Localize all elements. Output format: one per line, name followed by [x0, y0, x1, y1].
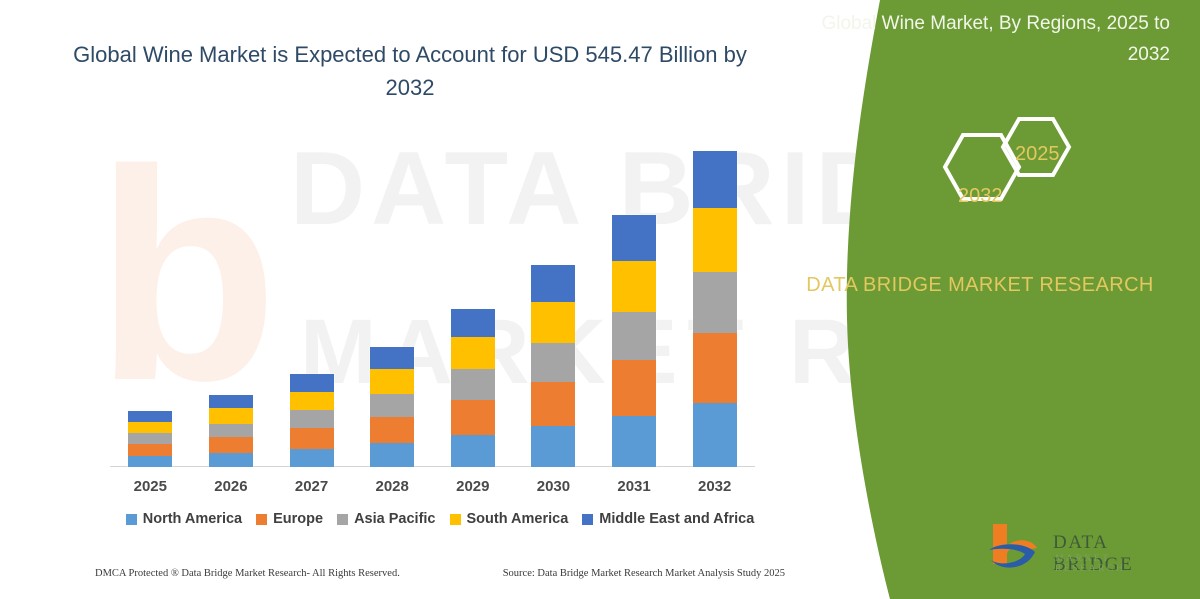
chart-legend: North AmericaEuropeAsia PacificSouth Ame…: [110, 511, 770, 527]
stacked-bar[interactable]: [531, 265, 575, 467]
bar-segment[interactable]: [451, 400, 495, 435]
legend-item[interactable]: Asia Pacific: [337, 511, 435, 527]
badge-end-year: 2032: [958, 185, 1003, 208]
bar-segment[interactable]: [128, 433, 172, 444]
x-axis-labels: 20252026202720282029203020312032: [110, 474, 755, 500]
legend-label: Europe: [273, 511, 323, 527]
bar-segment[interactable]: [128, 422, 172, 433]
legend-label: South America: [467, 511, 569, 527]
panel-title: Global Wine Market, By Regions, 2025 to …: [820, 8, 1170, 70]
bar-column: [352, 140, 433, 467]
x-axis-label: 2030: [513, 474, 594, 500]
stacked-bar[interactable]: [451, 309, 495, 467]
bar-segment[interactable]: [209, 424, 253, 438]
hexagon-outline-icon: [915, 105, 1095, 230]
x-axis-label: 2026: [191, 474, 272, 500]
company-logo: DATA BRIDGE MARKET RESEARCH: [985, 520, 1185, 582]
bar-segment[interactable]: [209, 408, 253, 424]
legend-label: Middle East and Africa: [599, 511, 754, 527]
legend-label: North America: [143, 511, 242, 527]
bar-segment[interactable]: [209, 453, 253, 467]
stacked-bar[interactable]: [290, 374, 334, 467]
badge-start-year: 2025: [1015, 143, 1060, 166]
legend-swatch-icon: [450, 514, 461, 525]
bar-column: [271, 140, 352, 467]
bar-segment[interactable]: [531, 343, 575, 382]
stacked-bar[interactable]: [370, 347, 414, 467]
bar-segment[interactable]: [128, 444, 172, 456]
bar-segment[interactable]: [370, 369, 414, 394]
bar-segment[interactable]: [531, 265, 575, 302]
brand-panel: Global Wine Market, By Regions, 2025 to …: [760, 0, 1200, 599]
legend-item[interactable]: Europe: [256, 511, 323, 527]
bar-column: [513, 140, 594, 467]
legend-label: Asia Pacific: [354, 511, 435, 527]
bar-segment[interactable]: [290, 374, 334, 391]
bar-segment[interactable]: [370, 443, 414, 467]
bar-segment[interactable]: [693, 208, 737, 272]
bar-column: [674, 140, 755, 467]
chart-bars: [110, 140, 755, 467]
bar-column: [110, 140, 191, 467]
legend-item[interactable]: Middle East and Africa: [582, 511, 754, 527]
x-axis-label: 2032: [674, 474, 755, 500]
legend-swatch-icon: [126, 514, 137, 525]
bar-segment[interactable]: [209, 395, 253, 408]
bar-column: [433, 140, 514, 467]
legend-swatch-icon: [256, 514, 267, 525]
bar-segment[interactable]: [612, 416, 656, 467]
data-bridge-logo-icon: [985, 520, 1049, 578]
x-axis-label: 2031: [594, 474, 675, 500]
bar-segment[interactable]: [290, 428, 334, 449]
footer-source: Source: Data Bridge Market Research Mark…: [503, 568, 785, 579]
year-badges: 2032 2025: [915, 105, 1095, 230]
x-axis-label: 2029: [433, 474, 514, 500]
bar-segment[interactable]: [693, 333, 737, 403]
footer-copyright: DMCA Protected ® Data Bridge Market Rese…: [95, 568, 400, 579]
bar-column: [191, 140, 272, 467]
page-title: Global Wine Market is Expected to Accoun…: [60, 38, 760, 104]
stacked-bar[interactable]: [612, 215, 656, 467]
bar-segment[interactable]: [290, 410, 334, 428]
bar-segment[interactable]: [370, 347, 414, 369]
bar-segment[interactable]: [612, 261, 656, 312]
brand-panel-content: Global Wine Market, By Regions, 2025 to …: [760, 0, 1200, 599]
bar-segment[interactable]: [612, 312, 656, 360]
bar-segment[interactable]: [290, 449, 334, 467]
stacked-bar[interactable]: [209, 395, 253, 467]
x-axis-label: 2025: [110, 474, 191, 500]
legend-item[interactable]: South America: [450, 511, 569, 527]
bar-segment[interactable]: [128, 456, 172, 467]
bar-segment[interactable]: [290, 392, 334, 411]
infographic-canvas: b DATA BRIDGE MARKET RESEARCH Global Win…: [0, 0, 1200, 599]
stacked-bar-chart: [110, 140, 755, 467]
chart-panel: Global Wine Market is Expected to Accoun…: [0, 0, 830, 599]
bar-segment[interactable]: [693, 272, 737, 333]
bar-segment[interactable]: [451, 337, 495, 369]
bar-segment[interactable]: [451, 309, 495, 338]
legend-item[interactable]: North America: [126, 511, 242, 527]
legend-swatch-icon: [582, 514, 593, 525]
bar-segment[interactable]: [693, 151, 737, 208]
bar-segment[interactable]: [531, 302, 575, 343]
bar-segment[interactable]: [531, 382, 575, 426]
brand-name: DATA BRIDGE MARKET RESEARCH: [800, 270, 1160, 301]
bar-segment[interactable]: [209, 437, 253, 453]
bar-segment[interactable]: [693, 403, 737, 467]
footer: DMCA Protected ® Data Bridge Market Rese…: [95, 568, 785, 579]
stacked-bar[interactable]: [128, 411, 172, 467]
bar-segment[interactable]: [370, 394, 414, 417]
logo-subtitle: MARKET RESEARCH: [1055, 554, 1185, 574]
stacked-bar[interactable]: [693, 151, 737, 467]
bar-column: [594, 140, 675, 467]
bar-segment[interactable]: [451, 435, 495, 467]
bar-segment[interactable]: [612, 215, 656, 261]
bar-segment[interactable]: [531, 426, 575, 467]
bar-segment[interactable]: [370, 417, 414, 443]
x-axis-label: 2027: [271, 474, 352, 500]
bar-segment[interactable]: [128, 411, 172, 422]
bar-segment[interactable]: [451, 369, 495, 399]
bar-segment[interactable]: [612, 360, 656, 416]
x-axis-label: 2028: [352, 474, 433, 500]
legend-swatch-icon: [337, 514, 348, 525]
